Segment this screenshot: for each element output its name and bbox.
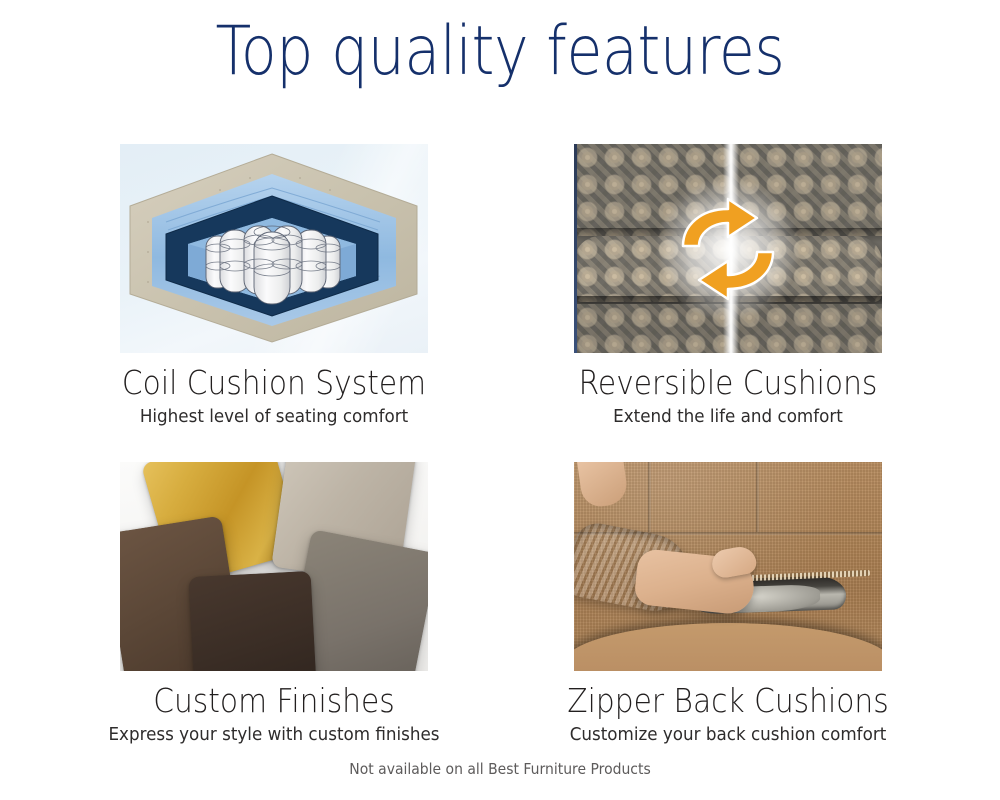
cushion-photo bbox=[574, 462, 882, 671]
feature-title: Custom Finishes bbox=[85, 683, 463, 720]
seam-vertical-right bbox=[756, 462, 759, 532]
feature-subtitle: Highest level of seating comfort bbox=[79, 406, 470, 428]
reversible-cushion-photo bbox=[574, 144, 882, 353]
feature-subtitle: Extend the life and comfort bbox=[533, 406, 924, 428]
reverse-arrows-icon bbox=[669, 193, 787, 305]
feature-subtitle: Express your style with custom finishes bbox=[79, 724, 470, 746]
photo-left-edge bbox=[574, 144, 577, 353]
coil-cushion-cutaway-illustration bbox=[120, 144, 428, 353]
feature-title: Reversible Cushions bbox=[539, 365, 917, 402]
wood-finish-swatches-photo bbox=[120, 462, 428, 671]
swatch-espresso bbox=[189, 571, 318, 671]
feature-card-reversible-cushions: Reversible Cushions Extend the life and … bbox=[518, 144, 938, 428]
footer-disclaimer: Not available on all Best Furniture Prod… bbox=[35, 760, 965, 778]
page-title: Top quality features bbox=[70, 18, 930, 86]
feature-title: Coil Cushion System bbox=[85, 365, 463, 402]
feature-card-coil-cushion-system: Coil Cushion System Highest level of sea… bbox=[64, 144, 484, 428]
feature-subtitle: Customize your back cushion comfort bbox=[533, 724, 924, 746]
feature-card-custom-finishes: Custom Finishes Express your style with … bbox=[64, 462, 484, 746]
seam-vertical-left bbox=[648, 462, 651, 532]
feature-card-zipper-back-cushions: Zipper Back Cushions Customize your back… bbox=[518, 462, 938, 746]
coil-cutaway-svg bbox=[120, 144, 428, 353]
upholstery-photo bbox=[574, 144, 882, 353]
zipper-back-cushion-photo bbox=[574, 462, 882, 671]
feature-title: Zipper Back Cushions bbox=[539, 683, 917, 720]
